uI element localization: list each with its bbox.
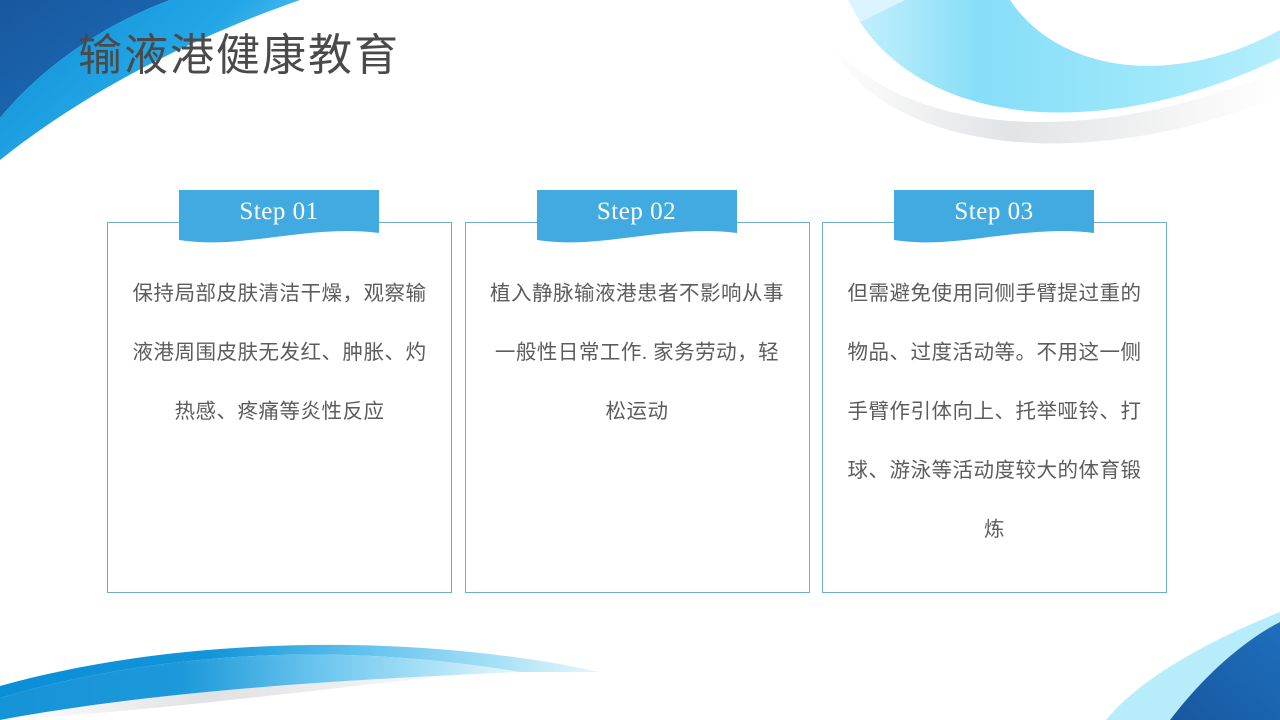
step-card-body: 但需避免使用同侧手臂提过重的物品、过度活动等。不用这一侧手臂作引体向上、托举哑铃… [844, 265, 1145, 560]
step-banner[interactable]: Step 01 [179, 190, 379, 243]
step-card-body: 保持局部皮肤清洁干燥，观察输液港周围皮肤无发红、肿胀、灼热感、疼痛等炎性反应 [129, 265, 430, 442]
step-card-body: 植入静脉输液港患者不影响从事一般性日常工作. 家务劳动，轻松运动 [487, 265, 788, 442]
step-card: 但需避免使用同侧手臂提过重的物品、过度活动等。不用这一侧手臂作引体向上、托举哑铃… [822, 190, 1167, 594]
page-title: 输液港健康教育 [78, 30, 400, 83]
step-banner-label: Step 03 [894, 190, 1094, 234]
steps-card-row: 保持局部皮肤清洁干燥，观察输液港周围皮肤无发红、肿胀、灼热感、疼痛等炎性反应 S… [107, 190, 1167, 594]
step-banner-label: Step 01 [179, 190, 379, 234]
step-banner[interactable]: Step 03 [894, 190, 1094, 243]
step-banner[interactable]: Step 02 [537, 190, 737, 243]
step-card: 植入静脉输液港患者不影响从事一般性日常工作. 家务劳动，轻松运动 Step 02 [465, 190, 810, 594]
step-banner-label: Step 02 [537, 190, 737, 234]
step-card: 保持局部皮肤清洁干燥，观察输液港周围皮肤无发红、肿胀、灼热感、疼痛等炎性反应 S… [107, 190, 452, 594]
presentation-slide: 输液港健康教育 保持局部皮肤清洁干燥，观察输液港周围皮肤无发红、肿胀、灼热感、疼… [0, 0, 1280, 720]
